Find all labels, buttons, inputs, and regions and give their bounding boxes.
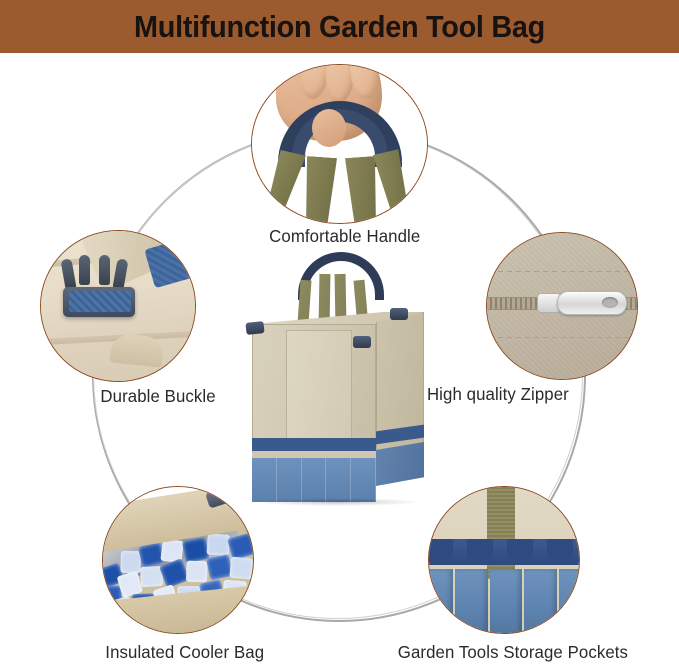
zipper-photo [487, 233, 637, 379]
ice-cube [207, 534, 230, 556]
page-title: Multifunction Garden Tool Bag [24, 0, 655, 53]
caption-garden-tools-storage-pockets: Garden Tools Storage Pockets [398, 642, 628, 663]
stitch-line [489, 337, 638, 338]
caption-durable-buckle: Durable Buckle [100, 386, 215, 407]
caption-insulated-cooler-bag: Insulated Cooler Bag [105, 642, 264, 663]
stitch-line [489, 271, 638, 272]
elastic-lobe [507, 539, 533, 565]
ice-cube [186, 561, 208, 583]
feature-photo-insulated-cooler-bag[interactable] [102, 486, 254, 634]
olive-webbing [487, 487, 515, 579]
tool-pocket [428, 569, 453, 634]
bag-front-pockets [252, 458, 376, 502]
infographic-page: Multifunction Garden Tool Bag [0, 0, 679, 669]
finger [347, 64, 380, 100]
buckle-blue-strap [69, 291, 131, 312]
bag-pocket [302, 458, 327, 502]
product-image-garden-tool-bag [240, 252, 440, 502]
zipper-pull-hole [602, 297, 618, 308]
bag-pocket [326, 458, 351, 502]
feature-photo-high-quality-zipper[interactable] [486, 232, 638, 380]
bag-navy-band [252, 438, 376, 451]
bag-pocket [351, 458, 376, 502]
buckle-clip-icon [245, 321, 264, 335]
elastic-lobe [428, 539, 453, 565]
thumb [312, 109, 346, 147]
caption-comfortable-handle: Comfortable Handle [269, 226, 420, 247]
handle-photo [252, 65, 427, 223]
buckle-clip-icon [353, 336, 371, 348]
navy-elastic-band [428, 539, 580, 565]
caption-high-quality-zipper: High quality Zipper [427, 384, 569, 405]
zipper-pull-tab [557, 291, 627, 315]
tool-pocket [559, 569, 580, 634]
tool-pocket [455, 569, 487, 634]
bag-center-panel [286, 330, 352, 448]
elastic-lobe [547, 539, 573, 565]
feature-photo-durable-buckle[interactable] [40, 230, 196, 382]
cooler-photo [103, 487, 253, 633]
tool-pocket [524, 569, 556, 634]
feature-photo-comfortable-handle[interactable] [251, 64, 428, 224]
buckle-prong [99, 255, 110, 285]
tool-pockets-row [428, 569, 580, 634]
buckle-photo [41, 231, 195, 381]
ice-cube [159, 558, 190, 588]
buckle-prong [79, 255, 90, 285]
feature-photo-garden-tools-storage-pockets[interactable] [428, 486, 580, 634]
bag-pocket [252, 458, 277, 502]
ice-cube [229, 557, 253, 580]
pockets-photo [429, 487, 579, 633]
ice-cube [120, 551, 140, 573]
ice-cube [182, 537, 210, 563]
bag-pocket [277, 458, 302, 502]
buckle-clip-icon [390, 308, 408, 320]
elastic-lobe [467, 539, 493, 565]
product-shadow [254, 498, 422, 506]
ice-cube [227, 532, 254, 560]
ice-cube [206, 554, 233, 580]
tool-pocket [490, 569, 522, 634]
